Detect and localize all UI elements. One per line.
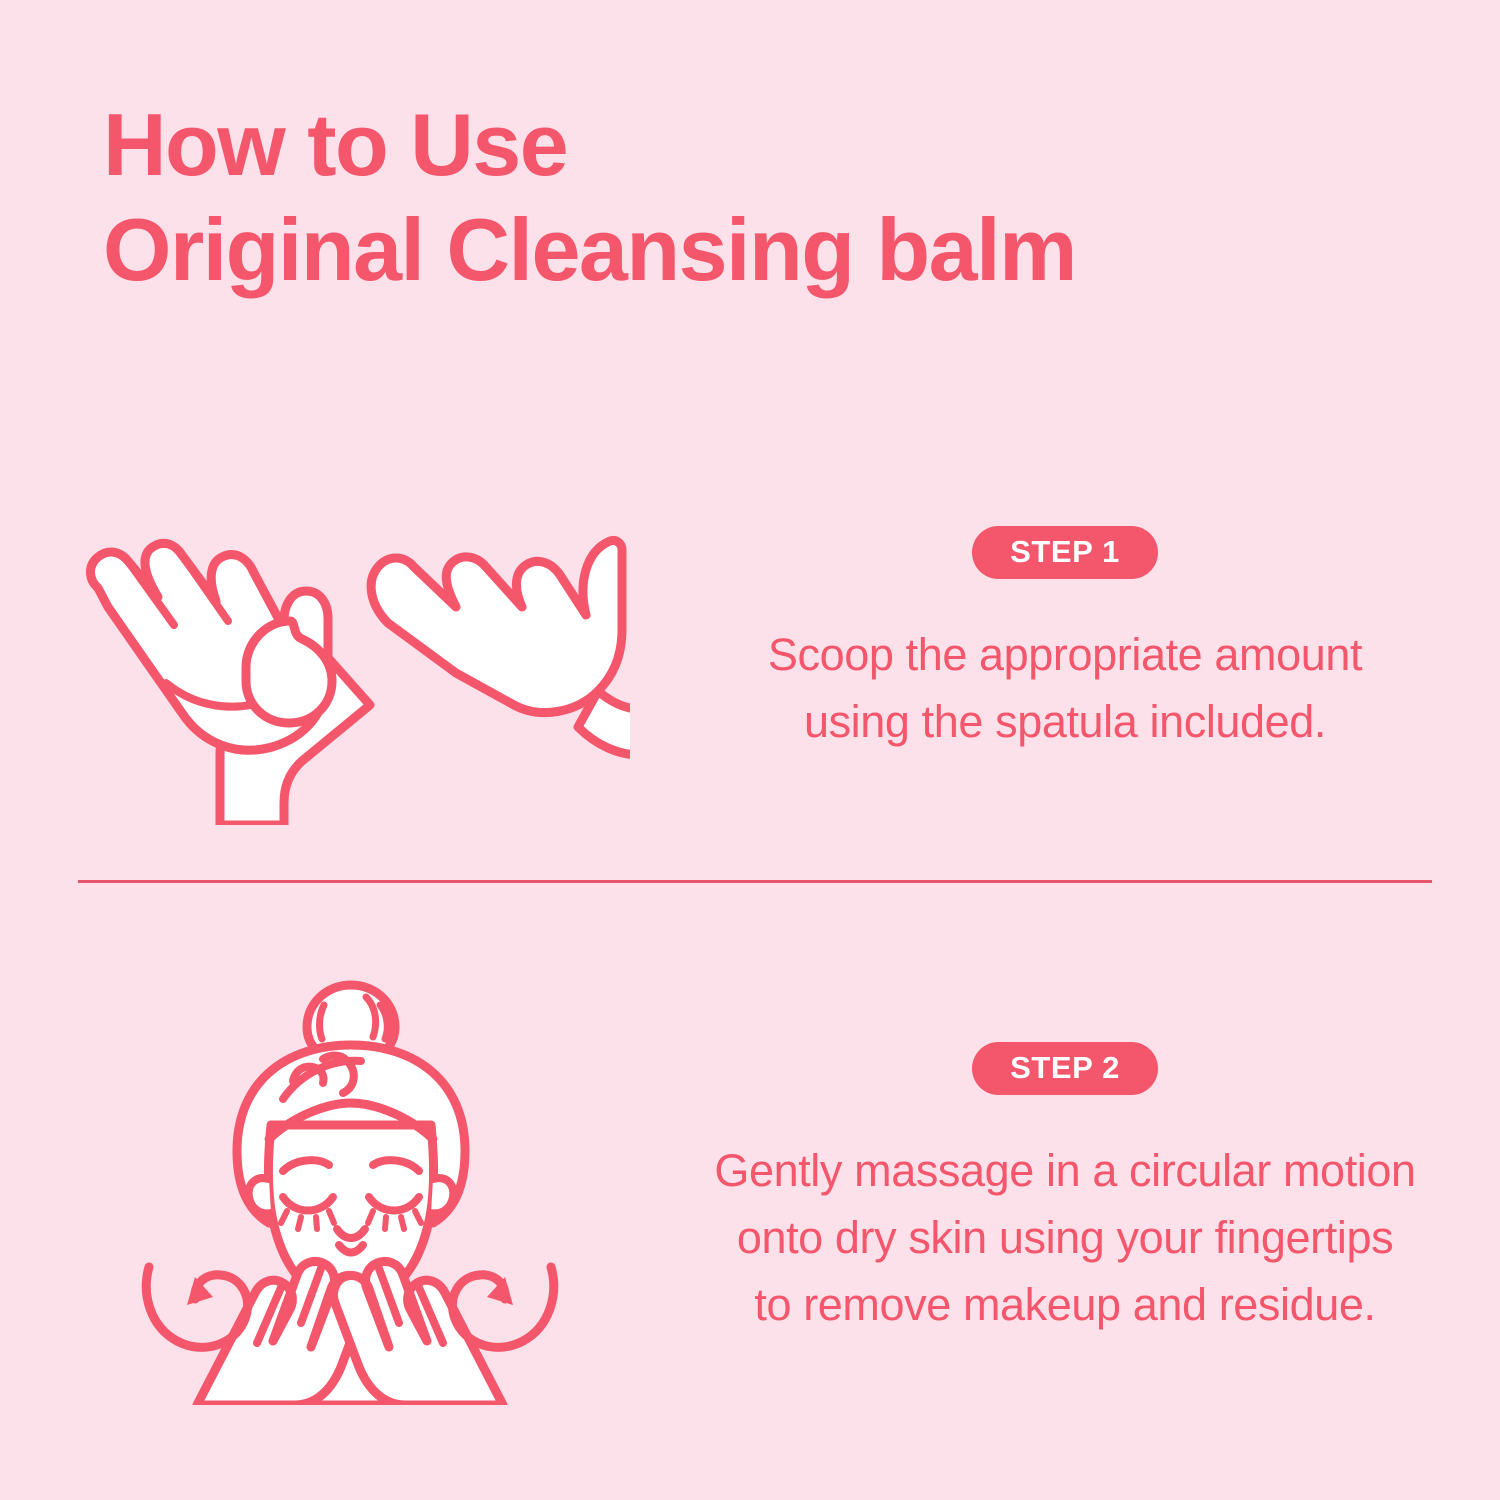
step-1-description: Scoop the appropriate amount using the s…	[768, 621, 1362, 755]
step-2-illustration-container	[0, 975, 700, 1405]
step-1-row: STEP 1 Scoop the appropriate amount usin…	[0, 440, 1500, 840]
hands-scooping-balm-icon	[70, 455, 630, 825]
step-2-text-container: STEP 2 Gently massage in a circular moti…	[700, 1042, 1500, 1338]
page-title: How to Use Original Cleansing balm	[103, 92, 1303, 302]
step-1-description-line-2: using the spatula included.	[768, 688, 1362, 755]
step-2-badge: STEP 2	[972, 1042, 1158, 1095]
step-1-badge: STEP 1	[972, 526, 1158, 579]
step-1-text-container: STEP 1 Scoop the appropriate amount usin…	[700, 526, 1500, 755]
step-1-description-line-1: Scoop the appropriate amount	[768, 621, 1362, 688]
step-2-description-line-2: onto dry skin using your fingertips	[714, 1204, 1415, 1271]
section-divider	[78, 880, 1432, 883]
swirl-arrow-right-icon	[452, 1267, 553, 1347]
step-2-description: Gently massage in a circular motion onto…	[714, 1137, 1415, 1338]
step-2-row: STEP 2 Gently massage in a circular moti…	[0, 960, 1500, 1420]
swirl-arrow-left-icon	[146, 1267, 247, 1347]
woman-massaging-face-icon	[135, 975, 565, 1405]
step-2-description-line-3: to remove makeup and residue.	[714, 1271, 1415, 1338]
step-1-illustration-container	[0, 455, 700, 825]
how-to-use-infographic: How to Use Original Cleansing balm	[0, 0, 1500, 1500]
step-2-description-line-1: Gently massage in a circular motion	[714, 1137, 1415, 1204]
page-title-line-1: How to Use	[103, 92, 1303, 197]
page-title-line-2: Original Cleansing balm	[103, 197, 1303, 302]
